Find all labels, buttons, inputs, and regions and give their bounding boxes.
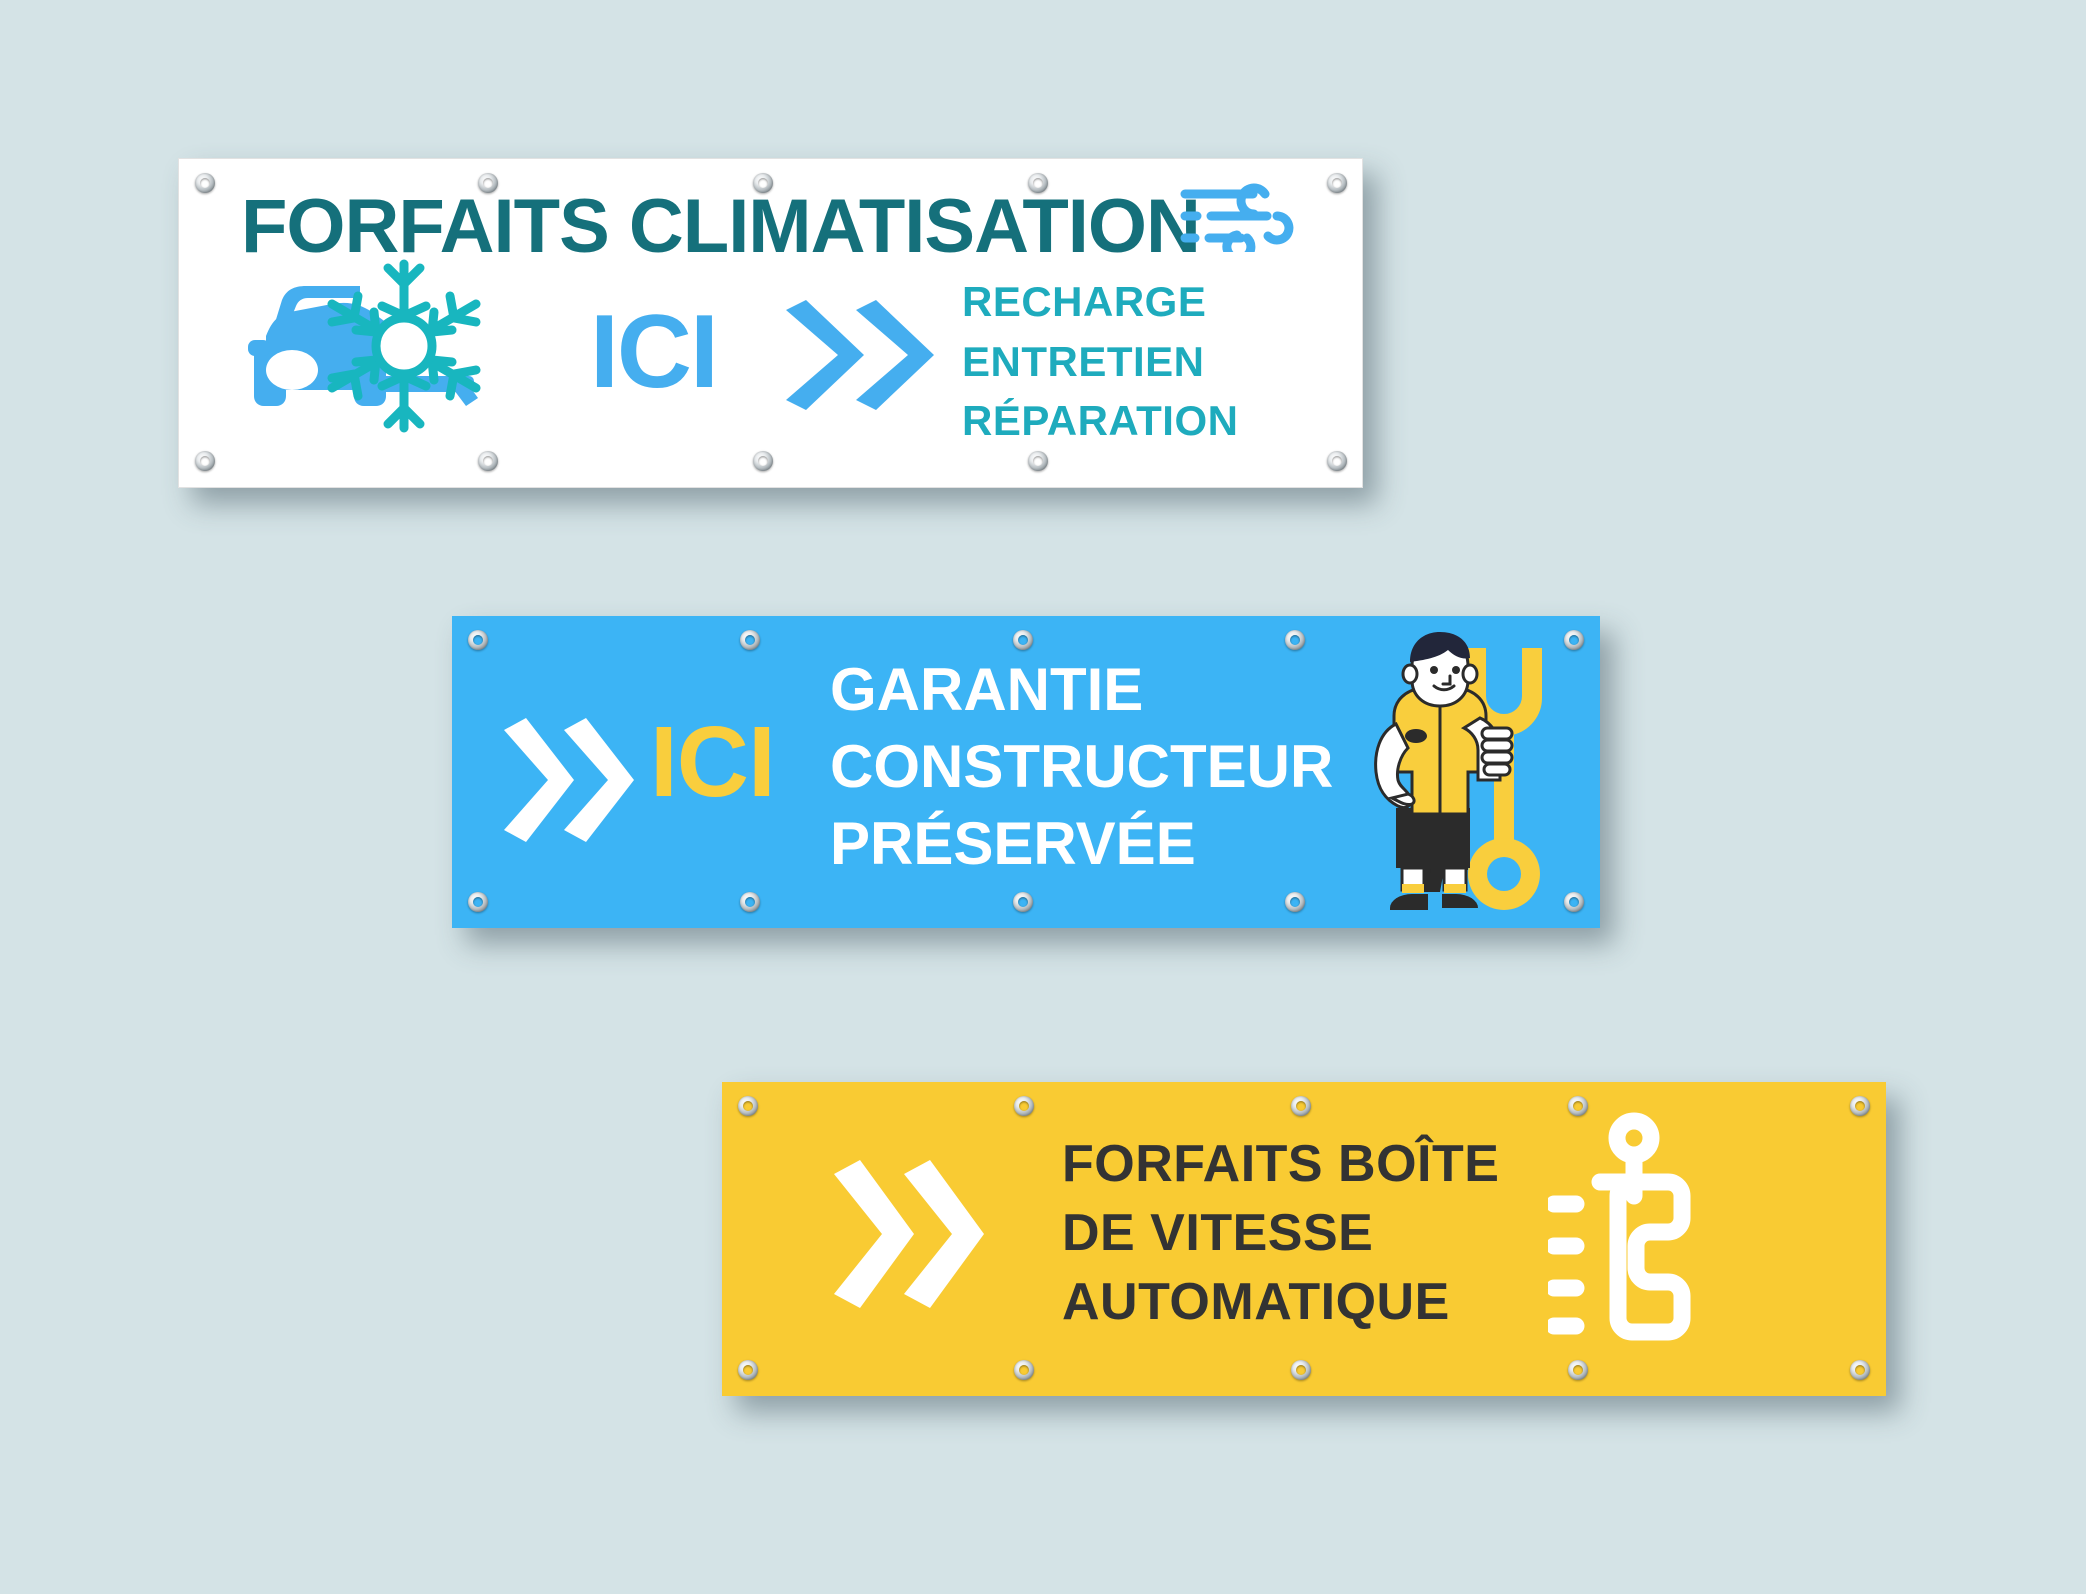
grommet xyxy=(468,892,488,912)
grommet xyxy=(1327,173,1347,193)
banner-stage: FORFAITS CLIMATISATION xyxy=(0,0,2086,1594)
double-chevron-icon xyxy=(500,718,636,842)
grommet xyxy=(1028,451,1048,471)
grommet xyxy=(195,451,215,471)
grommet xyxy=(1850,1360,1870,1380)
grommet xyxy=(1850,1096,1870,1116)
grommet xyxy=(1013,630,1033,650)
grommet xyxy=(1327,451,1347,471)
grommet xyxy=(468,630,488,650)
grommet xyxy=(740,630,760,650)
banner-title-climatisation: FORFAITS CLIMATISATION xyxy=(241,183,1200,270)
garantie-line: CONSTRUCTEUR xyxy=(830,729,1333,806)
mechanic-with-wrench-icon xyxy=(1350,632,1570,914)
double-chevron-icon xyxy=(830,1160,986,1308)
grommet xyxy=(1285,892,1305,912)
wind-icon xyxy=(1175,172,1305,252)
grommet xyxy=(1568,1360,1588,1380)
grommet xyxy=(1285,630,1305,650)
grommet xyxy=(1013,892,1033,912)
gearbox-icon xyxy=(1548,1112,1716,1344)
garantie-line: PRÉSERVÉE xyxy=(830,806,1333,883)
ici-badge-garantie: ICI xyxy=(650,712,775,812)
service-line: ENTRETIEN xyxy=(962,332,1238,392)
car-snowflake-icon xyxy=(236,258,498,434)
grommet xyxy=(753,451,773,471)
climatisation-services-list: RECHARGE ENTRETIEN RÉPARATION xyxy=(962,272,1238,451)
grommet xyxy=(1291,1096,1311,1116)
grommet xyxy=(478,451,498,471)
double-chevron-icon xyxy=(780,300,940,410)
service-line: RECHARGE xyxy=(962,272,1238,332)
grommet xyxy=(1291,1360,1311,1380)
garantie-text-block: GARANTIE CONSTRUCTEUR PRÉSERVÉE xyxy=(830,652,1333,882)
boite-line: FORFAITS BOÎTE xyxy=(1062,1130,1499,1199)
grommet xyxy=(740,892,760,912)
boite-line: AUTOMATIQUE xyxy=(1062,1268,1499,1337)
service-line: RÉPARATION xyxy=(962,391,1238,451)
boite-line: DE VITESSE xyxy=(1062,1199,1499,1268)
grommet xyxy=(1014,1096,1034,1116)
garantie-line: GARANTIE xyxy=(830,652,1333,729)
grommet xyxy=(1014,1360,1034,1380)
grommet xyxy=(738,1360,758,1380)
grommet xyxy=(738,1096,758,1116)
grommet xyxy=(195,173,215,193)
ici-badge-climatisation: ICI xyxy=(590,300,717,404)
boite-vitesse-text-block: FORFAITS BOÎTE DE VITESSE AUTOMATIQUE xyxy=(1062,1130,1499,1337)
